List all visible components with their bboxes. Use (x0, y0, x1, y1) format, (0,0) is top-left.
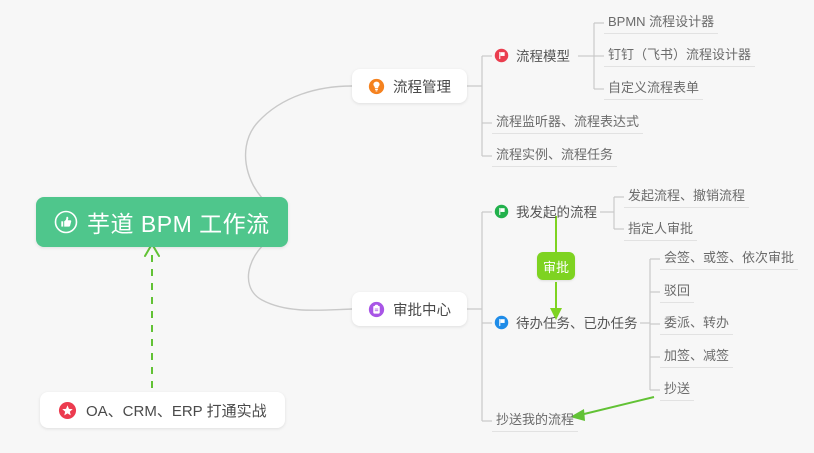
leaf-node-instance-task[interactable]: 流程实例、流程任务 (492, 145, 617, 167)
leaf-node-cc[interactable]: 抄送 (660, 379, 694, 401)
branch-label: 审批中心 (393, 299, 451, 320)
star-icon (58, 401, 77, 420)
leaf-node-start-cancel[interactable]: 发起流程、撤销流程 (624, 186, 749, 208)
flag-green-icon (494, 204, 509, 219)
clipboard-icon (368, 301, 385, 318)
leaf-node-cc-to-me[interactable]: 抄送我的流程 (492, 410, 578, 432)
tag-label: 审批 (543, 257, 569, 276)
leaf-node-countersign[interactable]: 会签、或签、依次审批 (660, 248, 798, 270)
root-node[interactable]: 芋道 BPM 工作流 (36, 197, 288, 247)
callout-label: OA、CRM、ERP 打通实战 (86, 400, 267, 421)
leaf-node-reject[interactable]: 驳回 (660, 281, 694, 303)
leaf-node-add-remove-sign[interactable]: 加签、减签 (660, 346, 733, 368)
leaf-node-dingtalk-designer[interactable]: 钉钉（飞书）流程设计器 (604, 45, 755, 67)
leaf-node-custom-form[interactable]: 自定义流程表单 (604, 78, 703, 100)
branch-node-approval-center[interactable]: 审批中心 (352, 292, 467, 326)
branch-node-process-management[interactable]: 流程管理 (352, 69, 467, 103)
leaf-node-delegate-transfer[interactable]: 委派、转办 (660, 313, 733, 335)
topic-node-my-initiated[interactable]: 我发起的流程 (492, 201, 599, 223)
mindmap-canvas: 芋道 BPM 工作流 流程管理 流程模型 BPMN 流程设计器 钉钉（飞书）流程… (0, 0, 814, 453)
leaf-node-assigned-approval[interactable]: 指定人审批 (624, 219, 697, 241)
thumbs-up-icon (54, 210, 78, 234)
flag-red-icon (494, 48, 509, 63)
flag-blue-icon (494, 315, 509, 330)
arrow-cc-line (580, 397, 654, 415)
topic-label: 流程模型 (516, 45, 570, 65)
topic-node-process-model[interactable]: 流程模型 (492, 45, 572, 67)
callout-node-integration[interactable]: OA、CRM、ERP 打通实战 (40, 392, 285, 428)
topic-label: 待办任务、已办任务 (516, 312, 638, 332)
topic-node-todo-done[interactable]: 待办任务、已办任务 (492, 312, 640, 334)
leaf-node-bpmn-designer[interactable]: BPMN 流程设计器 (604, 12, 718, 34)
topic-label: 我发起的流程 (516, 201, 597, 221)
branch-label: 流程管理 (393, 76, 451, 97)
tag-node-approval[interactable]: 审批 (537, 252, 575, 280)
lightbulb-icon (368, 78, 385, 95)
edge-root-to-process-management (246, 86, 352, 212)
root-label: 芋道 BPM 工作流 (87, 205, 270, 239)
leaf-node-listener-expression[interactable]: 流程监听器、流程表达式 (492, 112, 643, 134)
